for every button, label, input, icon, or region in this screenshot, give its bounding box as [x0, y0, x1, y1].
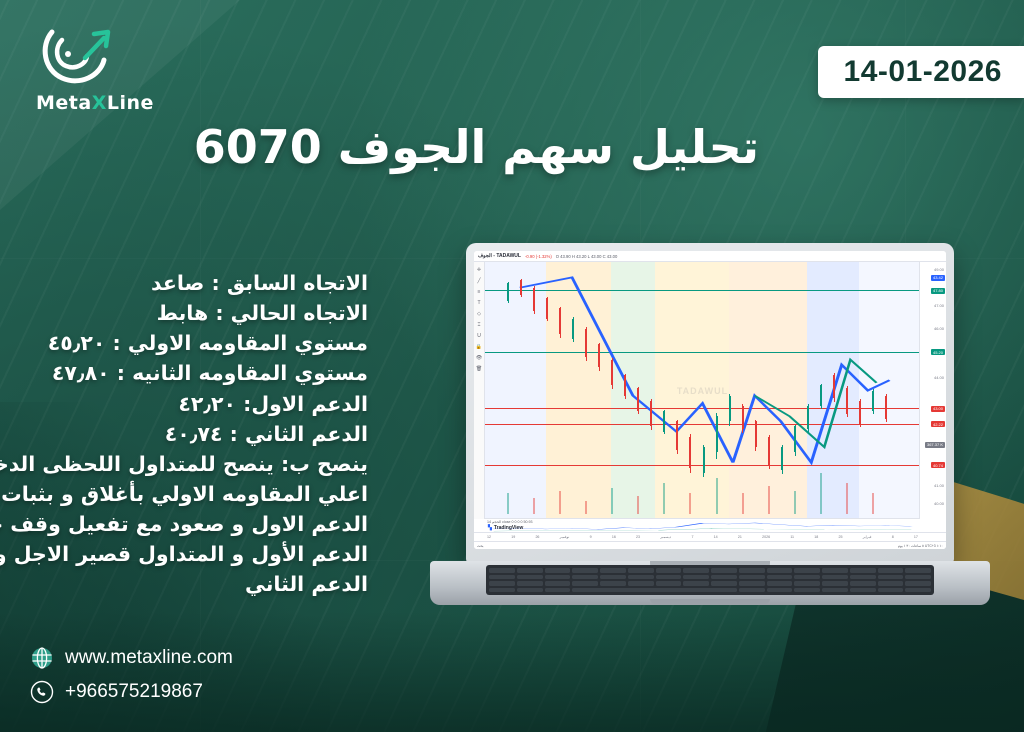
- brand-name: MetaXLine: [36, 92, 170, 114]
- x-tick-0: 12: [487, 535, 491, 539]
- candle: [637, 388, 639, 411]
- chart-change-label: -0.90 (-1.32%): [525, 254, 552, 259]
- candle: [559, 308, 561, 334]
- candle: [768, 437, 770, 465]
- candle: [546, 298, 548, 319]
- y-tick-9: 40.00: [934, 501, 944, 506]
- price-tag-4: 42.22: [931, 421, 945, 427]
- status-bar-right[interactable]: ٥ ساعات ٣٠ ١ يوم UTC+3 ١:١٠: [898, 544, 943, 548]
- analysis-text-block: الاتجاه السابق : صاعد الاتجاه الحالي : ه…: [0, 268, 368, 599]
- chart-left-toolbar[interactable]: ✛ ╱ ≡ T ◇ ⌶ U 🔒 👁 🗑: [474, 262, 485, 519]
- date-badge: 14-01-2026: [818, 46, 1024, 98]
- price-tag-0: 43.42: [931, 275, 945, 281]
- lock-icon[interactable]: 🔒: [476, 343, 483, 350]
- contact-phone-row[interactable]: +966575219867: [30, 680, 233, 704]
- chart-toolbar: الجوف - TADAWUL -0.90 (-1.32%) O 43.90 H…: [474, 251, 946, 262]
- candle: [755, 421, 757, 447]
- analysis-line-1: الاتجاه الحالي : هابط: [0, 298, 368, 328]
- x-tick-4: 9: [590, 535, 592, 539]
- x-tick-3: نوفمبر: [560, 535, 570, 539]
- chart-status-bar[interactable]: بحث ٥ ساعات ٣٠ ١ يوم UTC+3 ١:١٠: [474, 541, 946, 549]
- analysis-recommendation: ينصح ب: ينصح للمتداول اللحظى الدخول بعد …: [0, 449, 368, 600]
- x-tick-6: 23: [636, 535, 640, 539]
- crosshair-icon[interactable]: ✛: [476, 266, 483, 273]
- poster-canvas: MetaXLine 14-01-2026 تحليل سهم الجوف 607…: [0, 0, 1024, 732]
- brand-name-part2: Line: [107, 92, 154, 114]
- x-tick-15: فبراير: [863, 535, 872, 539]
- page-title: تحليل سهم الجوف 6070: [194, 120, 759, 174]
- x-tick-16: 8: [892, 535, 894, 539]
- fib-icon[interactable]: ≡: [476, 288, 483, 295]
- tradingview-logo-text: TradingView: [494, 525, 523, 531]
- phone-text: +966575219867: [65, 681, 203, 703]
- y-tick-0: 49.00: [934, 267, 944, 272]
- candle: [716, 416, 718, 452]
- candle: [507, 283, 509, 301]
- candle: [742, 406, 744, 429]
- candle: [833, 375, 835, 398]
- laptop-trackpad-notch: [650, 599, 770, 604]
- trash-icon[interactable]: 🗑: [476, 365, 483, 372]
- candle: [520, 280, 522, 295]
- magnet-icon[interactable]: U: [476, 332, 483, 339]
- analysis-line-2: مستوي المقاومه الاولي : ٤٥٫٢٠: [0, 328, 368, 358]
- price-tag-1: 47.80: [931, 288, 945, 294]
- contact-website-row[interactable]: www.metaxline.com: [30, 646, 233, 670]
- chart-watermark: TADAWUL: [677, 386, 728, 396]
- candle: [585, 329, 587, 357]
- y-tick-5: 44.00: [934, 375, 944, 380]
- chart-bottom-bar: 12 19 26 نوفمبر 9 16 23 ديسمبر 7 14 21 2…: [474, 532, 946, 549]
- trendline-icon[interactable]: ╱: [476, 277, 483, 284]
- x-tick-5: 16: [612, 535, 616, 539]
- x-tick-17: 17: [914, 535, 918, 539]
- candle: [846, 388, 848, 414]
- price-tag-2: 45.20: [931, 349, 945, 355]
- chart-symbol-label: الجوف - TADAWUL: [478, 253, 521, 259]
- x-tick-13: 18: [814, 535, 818, 539]
- eye-icon[interactable]: 👁: [476, 354, 483, 361]
- y-tick-8: 41.00: [934, 483, 944, 488]
- status-bar-left[interactable]: بحث: [477, 544, 483, 548]
- candle: [703, 447, 705, 473]
- chart-ohlc-label: O 43.90 H 43.20 L 43.00 C 43.00: [556, 254, 618, 259]
- x-tick-8: 7: [691, 535, 693, 539]
- candle: [689, 437, 691, 468]
- laptop-screen: الجوف - TADAWUL -0.90 (-1.32%) O 43.90 H…: [474, 251, 946, 549]
- price-tag-5: 367.37 K: [925, 442, 945, 448]
- text-tool-icon[interactable]: T: [476, 299, 483, 306]
- tradingview-logo-icon: ▚: [488, 525, 492, 531]
- candle: [611, 360, 613, 386]
- candle: [650, 401, 652, 427]
- contact-block: www.metaxline.com +966575219867: [30, 636, 233, 704]
- analysis-line-0: الاتجاه السابق : صاعد: [0, 268, 368, 298]
- x-tick-1: 19: [511, 535, 515, 539]
- x-tick-2: 26: [535, 535, 539, 539]
- x-tick-14: 25: [838, 535, 842, 539]
- candle: [598, 344, 600, 367]
- x-tick-12: 11: [790, 535, 794, 539]
- measure-icon[interactable]: ⌶: [476, 321, 483, 328]
- chart-time-axis[interactable]: 12 19 26 نوفمبر 9 16 23 ديسمبر 7 14 21 2…: [485, 533, 920, 540]
- y-tick-3: 46.00: [934, 326, 944, 331]
- brand-logo: MetaXLine: [30, 18, 170, 128]
- x-tick-11: 2026: [762, 535, 770, 539]
- candle: [872, 391, 874, 412]
- whatsapp-icon: [30, 680, 54, 704]
- laptop-keyboard: [486, 565, 934, 595]
- tradingview-chart-app: الجوف - TADAWUL -0.90 (-1.32%) O 43.90 H…: [474, 251, 946, 549]
- x-tick-7: ديسمبر: [660, 535, 671, 539]
- candle: [729, 396, 731, 422]
- y-tick-2: 47.00: [934, 303, 944, 308]
- website-text: www.metaxline.com: [65, 647, 233, 669]
- candle: [820, 385, 822, 406]
- chart-price-scale[interactable]: 49.00 47.00 46.00 44.00 41.00 40.00 43.4…: [919, 262, 946, 519]
- sub-indicator-line: [485, 519, 920, 533]
- candle: [572, 319, 574, 340]
- analysis-line-3: مستوي المقاومه الثانيه : ٤٧٫٨٠: [0, 358, 368, 388]
- candle: [807, 406, 809, 429]
- candle: [663, 411, 665, 432]
- candle: [533, 288, 535, 311]
- chart-sub-indicator-pane[interactable]: الحجم 14 close 0 0 0 0 50.93: [485, 518, 920, 533]
- candle: [794, 426, 796, 452]
- candle: [781, 447, 783, 470]
- globe-icon: [30, 646, 54, 670]
- analysis-line-4: الدعم الاول: ٤٢٫٢٠: [0, 389, 368, 419]
- x-tick-10: 21: [738, 535, 742, 539]
- brand-name-x: X: [92, 92, 107, 114]
- candle: [859, 401, 861, 424]
- laptop-mockup: الجوف - TADAWUL -0.90 (-1.32%) O 43.90 H…: [430, 243, 990, 643]
- price-tag-6: 40.74: [931, 462, 945, 468]
- analysis-line-5: الدعم الثاني : ٤٠٫٧٤: [0, 419, 368, 449]
- candle: [624, 375, 626, 396]
- price-tag-3: 43.00: [931, 406, 945, 412]
- tradingview-logo[interactable]: ▚ TradingView: [488, 525, 523, 531]
- metaxline-logo-icon: [38, 18, 130, 90]
- chart-plot-area[interactable]: TADAWUL: [485, 262, 920, 519]
- x-tick-9: 14: [714, 535, 718, 539]
- laptop-lid: الجوف - TADAWUL -0.90 (-1.32%) O 43.90 H…: [466, 243, 954, 563]
- candle: [676, 421, 678, 449]
- candle: [885, 396, 887, 419]
- brand-name-part1: Meta: [36, 92, 92, 114]
- shapes-icon[interactable]: ◇: [476, 310, 483, 317]
